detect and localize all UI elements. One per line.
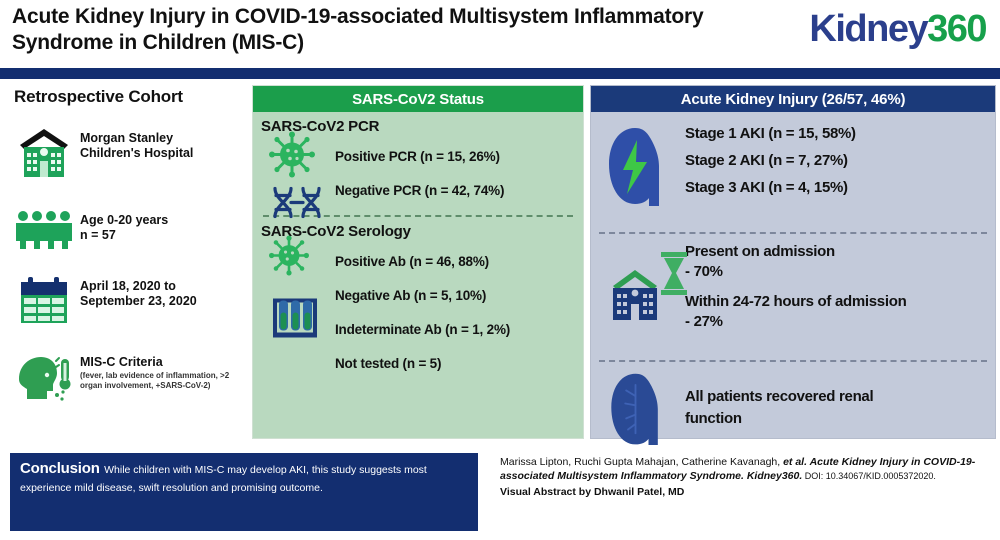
aki-present-on-admission-label: Present on admission [685,242,995,262]
citation-credit: Visual Abstract by Dhwanil Patel, MD [500,485,992,499]
calendar-icon [8,275,80,327]
aki-header: Acute Kidney Injury (26/57, 46%) [591,86,995,112]
pcr-negative-label: Negative PCR (n = 42, 74%) [335,183,504,198]
sars-cov2-status-panel: SARS-CoV2 Status SARS-CoV2 PCR [252,85,584,439]
aki-within-24-72-value: - 27% [685,312,995,332]
cohort-item-age: Age 0-20 years n = 57 [8,209,248,249]
serology-positive-row: Positive Ab (n = 46, 88%) [253,244,583,278]
sars-cov2-status-header: SARS-CoV2 Status [253,86,583,112]
conclusion-label: Conclusion [20,460,100,477]
cohort-item-hospital-label: Morgan Stanley Children's Hospital [80,127,193,161]
serology-positive-label: Positive Ab (n = 46, 88%) [335,254,489,269]
citation-doi: DOI: 10.34067/KID.0005372020. [802,471,936,481]
head-thermometer-icon [8,351,80,411]
citation-authors: Marissa Lipton, Ruchi Gupta Mahajan, Cat… [500,456,783,468]
cohort-item-misc-sublabel: (fever, lab evidence of inflammation, >2… [80,371,248,390]
aki-stage2-label: Stage 2 AKI (n = 7, 27%) [685,147,995,174]
logo-text-360: 360 [927,8,986,50]
serology-indeterminate-label: Indeterminate Ab (n = 1, 2%) [335,322,510,337]
kidney-lightning-icon [605,124,679,215]
acute-kidney-injury-panel: Acute Kidney Injury (26/57, 46%) Stage 1… [590,85,996,439]
page-title: Acute Kidney Injury in COVID-19-associat… [12,4,712,56]
aki-within-24-72-label: Within 24-72 hours of admission [685,292,995,312]
visual-abstract-page: Acute Kidney Injury in COVID-19-associat… [0,0,1000,540]
pcr-negative-row: Negative PCR (n = 42, 74%) [253,173,583,207]
citation-etal: et al. [783,456,809,468]
aki-recovery-lines: All patients recovered renal function [685,372,995,430]
conclusion-box: Conclusion While children with MIS-C may… [10,453,478,531]
cohort-item-dates-label: April 18, 2020 to September 23, 2020 [80,275,197,309]
cohort-heading: Retrospective Cohort [14,87,238,107]
hospital-hourglass-icon [605,248,691,333]
cohort-item-misc-criteria: MIS-C Criteria (fever, lab evidence of i… [8,351,248,411]
logo-text-kidney: Kidney [809,8,927,50]
citation: Marissa Lipton, Ruchi Gupta Mahajan, Cat… [500,455,992,499]
sars-serology-section-title: SARS-CoV2 Serology [261,223,583,240]
footer: Conclusion While children with MIS-C may… [0,445,1000,540]
aki-timing-block: Present on admission - 70% Within 24-72 … [591,234,995,354]
hospital-icon [8,127,80,179]
aki-recovery-line2: function [685,408,995,430]
aki-recovery-block: All patients recovered renal function [591,362,995,458]
retrospective-cohort-column: Retrospective Cohort [0,79,248,445]
aki-stages-block: Stage 1 AKI (n = 15, 58%) Stage 2 AKI (n… [591,112,995,226]
serology-nottested-label: Not tested (n = 5) [335,356,441,371]
cohort-item-misc-text: MIS-C Criteria (fever, lab evidence of i… [80,351,248,390]
header-divider-bar [0,68,1000,79]
aki-timing-lines: Present on admission - 70% Within 24-72 … [685,242,995,332]
aki-stages-lines: Stage 1 AKI (n = 15, 58%) Stage 2 AKI (n… [685,120,995,201]
cohort-item-age-label: Age 0-20 years n = 57 [80,209,168,243]
aki-stage1-label: Stage 1 AKI (n = 15, 58%) [685,120,995,147]
pcr-positive-row: Positive PCR (n = 15, 26%) [253,139,583,173]
serology-indeterminate-row: Indeterminate Ab (n = 1, 2%) [253,312,583,346]
aki-stage3-label: Stage 3 AKI (n = 4, 15%) [685,174,995,201]
aki-recovery-line1: All patients recovered renal [685,386,995,408]
kidney360-logo: Kidney360 [809,8,986,51]
citation-journal: Kidney360. [747,470,802,482]
people-group-icon [8,209,80,249]
cohort-item-hospital: Morgan Stanley Children's Hospital [8,127,248,179]
serology-nottested-row: Not tested (n = 5) [253,346,583,380]
pcr-positive-label: Positive PCR (n = 15, 26%) [335,149,500,164]
main-content: Retrospective Cohort [0,79,1000,445]
header: Acute Kidney Injury in COVID-19-associat… [0,0,1000,68]
kidney-icon [605,370,679,455]
serology-negative-label: Negative Ab (n = 5, 10%) [335,288,486,303]
cohort-item-misc-label: MIS-C Criteria [80,351,248,370]
aki-present-on-admission-value: - 70% [685,262,995,282]
cohort-item-dates: April 18, 2020 to September 23, 2020 [8,275,248,327]
